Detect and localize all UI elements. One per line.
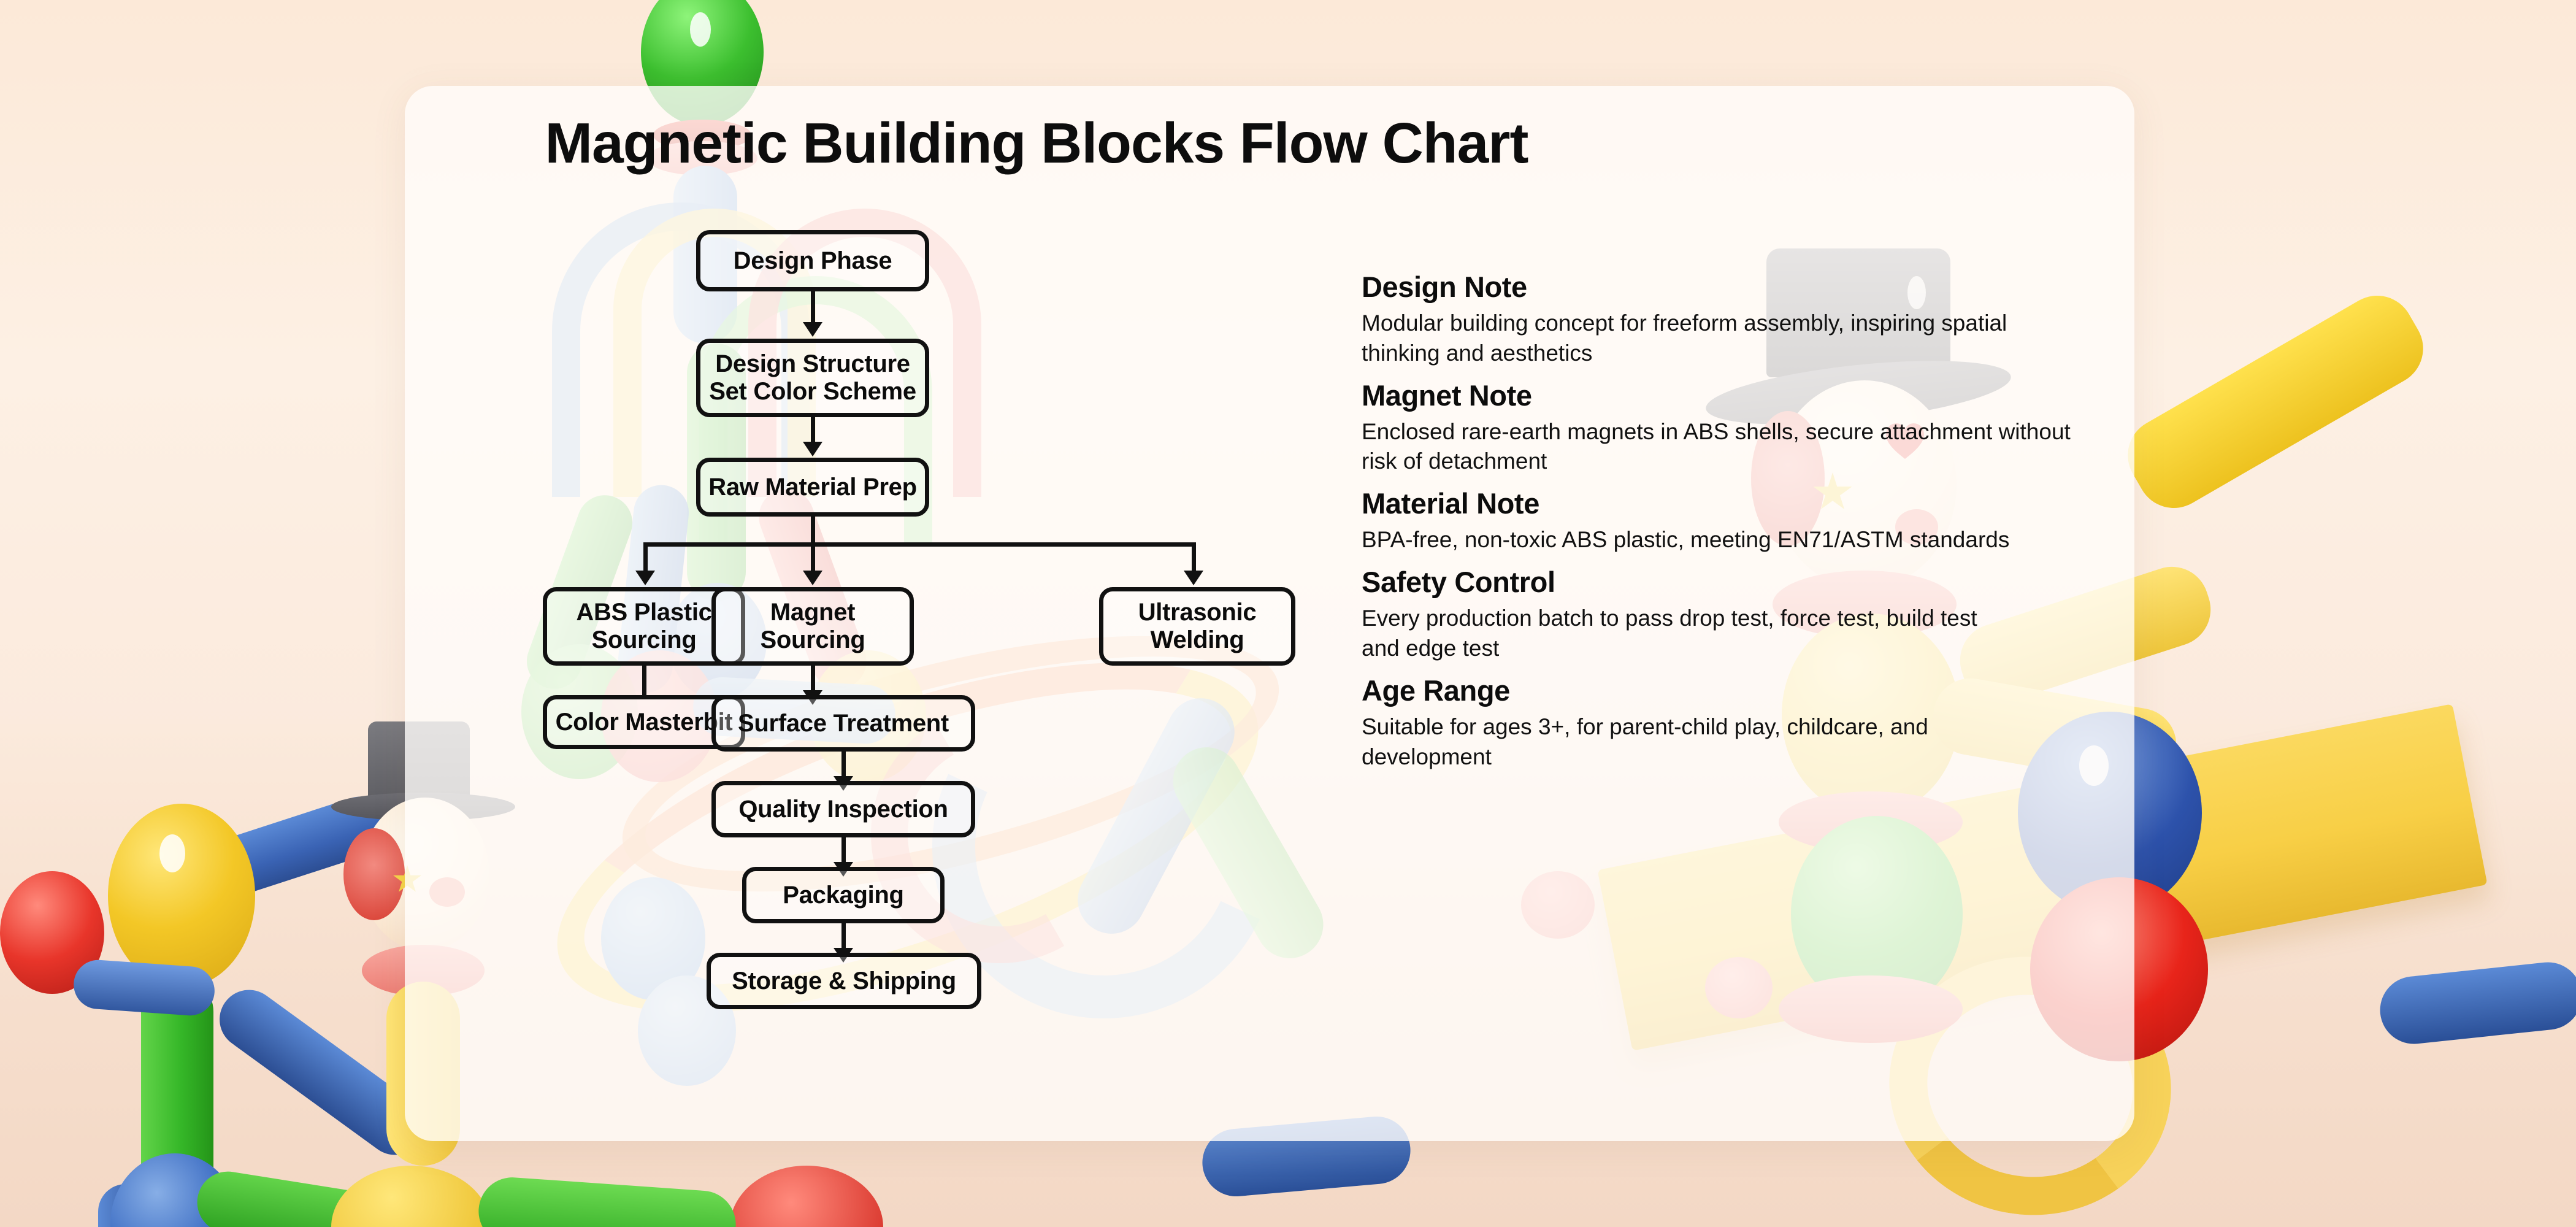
- toy-highlight: [159, 834, 185, 872]
- note-safety: Safety Control Every production batch to…: [1362, 565, 2098, 664]
- flow-node-label: Magnet Sourcing: [761, 599, 865, 654]
- flow-node-label: ABS Plastic Sourcing: [576, 599, 711, 654]
- connector-abs-to-color-masterbit: [642, 666, 646, 695]
- note-design: Design Note Modular building concept for…: [1362, 270, 2098, 369]
- flow-node-quality-inspection[interactable]: Quality Inspection: [711, 781, 975, 837]
- flow-node-label: Storage & Shipping: [732, 967, 956, 995]
- arrowhead-to-abs-plastic: [635, 571, 655, 585]
- connector-split-bus: [643, 542, 1196, 547]
- connector-raw-material-stem: [811, 517, 815, 546]
- flow-node-label: Design Structure Set Color Scheme: [709, 350, 916, 406]
- note-title: Safety Control: [1362, 565, 2098, 599]
- flow-node-label: Quality Inspection: [738, 796, 948, 823]
- big-yellow-bar: [2114, 282, 2436, 521]
- flow-node-label: Ultrasonic Welding: [1138, 599, 1257, 654]
- note-material: Material Note BPA-free, non-toxic ABS pl…: [1362, 487, 2098, 555]
- content-card: Magnetic Building Blocks Flow Chart Desi…: [405, 86, 2134, 1141]
- flow-node-label: Color Masterbit: [556, 709, 733, 736]
- notes-panel: Design Note Modular building concept for…: [1362, 270, 2098, 782]
- connector-design-phase-to-design-structure: [811, 291, 815, 326]
- note-body: BPA-free, non-toxic ABS plastic, meeting…: [1362, 525, 2018, 555]
- flow-node-label: Packaging: [783, 882, 903, 909]
- connector-split-right-drop: [1192, 542, 1196, 574]
- clown-hair-left: [343, 828, 405, 920]
- note-body: Enclosed rare-earth magnets in ABS shell…: [1362, 417, 2073, 477]
- note-body: Suitable for ages 3+, for parent-child p…: [1362, 712, 1975, 772]
- note-title: Magnet Note: [1362, 379, 2098, 412]
- flow-node-packaging[interactable]: Packaging: [742, 867, 945, 923]
- flow-node-ultrasonic-welding[interactable]: Ultrasonic Welding: [1099, 587, 1295, 666]
- flow-node-magnet-sourcing[interactable]: Magnet Sourcing: [711, 587, 914, 666]
- toy-highlight-top: [690, 12, 711, 47]
- note-magnet: Magnet Note Enclosed rare-earth magnets …: [1362, 379, 2098, 477]
- flow-node-design-structure[interactable]: Design Structure Set Color Scheme: [696, 339, 929, 417]
- flow-node-storage-shipping[interactable]: Storage & Shipping: [707, 953, 981, 1009]
- note-title: Age Range: [1362, 674, 2098, 707]
- note-body: Every production batch to pass drop test…: [1362, 604, 2006, 664]
- arrowhead-to-ultrasonic: [1184, 571, 1203, 585]
- flow-node-design-phase[interactable]: Design Phase: [696, 230, 929, 291]
- arrowhead-to-design-structure: [803, 322, 822, 337]
- connector-split-center-drop: [811, 542, 815, 574]
- note-title: Material Note: [1362, 487, 2098, 520]
- arrowhead-to-raw-material: [803, 442, 822, 456]
- note-body: Modular building concept for freeform as…: [1362, 309, 2073, 369]
- toy-rod-blue-c: [72, 958, 216, 1017]
- note-age-range: Age Range Suitable for ages 3+, for pare…: [1362, 674, 2098, 772]
- connector-split-left-drop: [643, 542, 648, 574]
- flow-node-surface-treatment[interactable]: Surface Treatment: [711, 695, 975, 752]
- flow-node-label: Raw Material Prep: [708, 474, 916, 501]
- flow-node-label: Design Phase: [734, 247, 892, 275]
- flowchart: Design Phase Design Structure Set Color …: [405, 86, 1325, 1141]
- flow-node-label: Surface Treatment: [738, 710, 949, 737]
- toy-ball-yellow-a: [108, 804, 255, 988]
- arrowhead-to-magnet: [803, 571, 822, 585]
- note-title: Design Note: [1362, 270, 2098, 304]
- flow-node-raw-material-prep[interactable]: Raw Material Prep: [696, 458, 929, 517]
